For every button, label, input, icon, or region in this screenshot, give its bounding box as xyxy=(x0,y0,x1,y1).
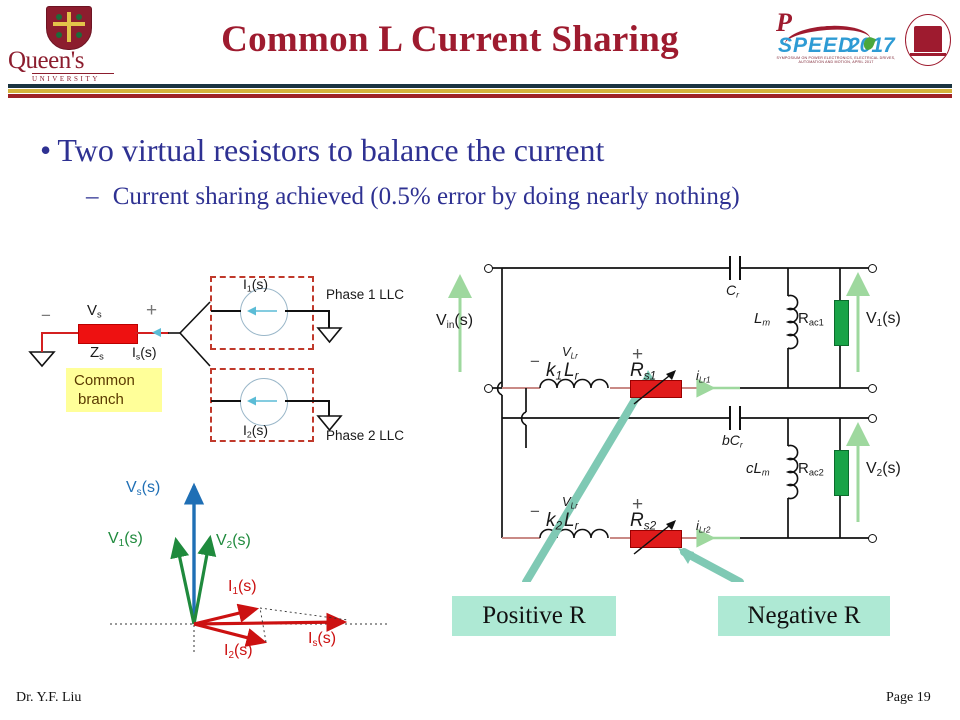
queens-subtitle: UNIVERSITY xyxy=(32,73,114,83)
rac1-resistor xyxy=(834,300,849,346)
phasor-label-i2: I2(s) xyxy=(224,642,253,661)
common-branch-highlight: Common branch xyxy=(66,368,162,412)
common-branch-line-2: branch xyxy=(78,391,124,408)
speed-logo-subtitle: SYMPOSIUM ON POWER ELECTRONICS, ELECTRIC… xyxy=(776,56,896,64)
vlr1-minus-sign: − xyxy=(530,352,540,372)
label-v1-out: V1(s) xyxy=(866,310,901,329)
label-k2lr: k2Lr xyxy=(546,510,579,532)
phase-1-caption: Phase 1 LLC xyxy=(326,287,404,302)
source-plus-sign: + xyxy=(146,300,157,322)
phasor-label-vs: Vs(s) xyxy=(126,479,160,498)
terminal-v2-top xyxy=(868,414,877,423)
speed-logo-word: SPEED xyxy=(778,34,854,58)
footer-author: Dr. Y.F. Liu xyxy=(16,690,81,706)
phasor-label-i1: I1(s) xyxy=(228,578,257,597)
stripe-gold xyxy=(8,89,952,93)
queens-crest-icon xyxy=(46,6,92,50)
terminal-v1-top xyxy=(868,264,877,273)
phasor-label-v2: V2(s) xyxy=(216,532,251,551)
label-i1: I1(s) xyxy=(243,276,268,293)
is-direction-arrow-icon xyxy=(152,327,166,338)
terminal-v1-bottom xyxy=(868,384,877,393)
header-stripe-band xyxy=(8,84,952,101)
impedance-zs-box xyxy=(78,324,138,344)
bullet-level-2-marker: – xyxy=(86,183,99,210)
label-i2: I2(s) xyxy=(243,422,268,439)
slide-header: Queen's UNIVERSITY Common L Current Shar… xyxy=(0,0,960,92)
label-clm: cLm xyxy=(746,460,770,478)
common-branch-line-1: Common xyxy=(74,372,135,389)
stripe-dark xyxy=(8,84,952,88)
label-k1lr: k1Lr xyxy=(546,360,579,382)
wire-ground-to-zs xyxy=(41,332,43,352)
terminal-vin-bottom xyxy=(484,384,493,393)
label-vlr2: VLr xyxy=(562,494,578,510)
wire-zs-left xyxy=(41,332,79,334)
label-rac1: Rac1 xyxy=(798,310,824,328)
branch-split-wires xyxy=(166,288,212,378)
label-ilr2: iLr2 xyxy=(696,518,711,534)
label-rs1: Rs1 xyxy=(630,360,656,382)
label-rac2: Rac2 xyxy=(798,460,824,478)
bullet-level-1: • Two virtual resistors to balance the c… xyxy=(40,132,604,169)
institution-seal-icon xyxy=(905,14,951,66)
wire-p1-right xyxy=(285,310,330,312)
bullet-level-1-text: Two virtual resistors to balance the cur… xyxy=(57,132,604,168)
phase-1-ground-icon xyxy=(316,326,343,345)
source-minus-sign: − xyxy=(41,306,51,326)
vlr2-minus-sign: − xyxy=(530,502,540,522)
wire-p2-left xyxy=(211,400,241,402)
phase-2-source-arrow-icon xyxy=(247,395,279,407)
terminal-v2-bottom xyxy=(868,534,877,543)
bullet-level-2-text: Current sharing achieved (0.5% error by … xyxy=(113,183,740,210)
stripe-red xyxy=(8,94,952,98)
ground-symbol-icon xyxy=(28,350,56,370)
equivalent-source-model-diagram: − Vs + Zs Is(s) I1(s) Phase 1 LLC xyxy=(14,258,434,468)
queens-name: Queen's xyxy=(8,47,84,74)
phasor-vectors xyxy=(100,472,400,662)
callout-positive-r: Positive R xyxy=(452,596,616,636)
label-vs: Vs xyxy=(87,302,102,320)
label-cr: Cr xyxy=(726,282,739,299)
label-is: Is(s) xyxy=(132,344,157,361)
label-v2-out: V2(s) xyxy=(866,460,901,479)
phase-2-caption: Phase 2 LLC xyxy=(326,428,404,443)
label-zs: Zs xyxy=(90,344,104,362)
rac2-resistor xyxy=(834,450,849,496)
label-bcr: bCr xyxy=(722,432,743,449)
phasor-label-is: Is(s) xyxy=(308,630,336,649)
queens-wordmark: Queen's UNIVERSITY xyxy=(8,48,133,80)
label-rs2: Rs2 xyxy=(630,510,656,532)
callout-negative-r: Negative R xyxy=(718,596,890,636)
phase-1-source-arrow-icon xyxy=(247,305,279,317)
bullet-level-2: – Current sharing achieved (0.5% error b… xyxy=(86,183,740,211)
label-vlr1: VLr xyxy=(562,344,578,360)
page-title: Common L Current Sharing xyxy=(140,18,760,61)
label-ilr1: iLr1 xyxy=(696,368,711,384)
label-lm: Lm xyxy=(754,310,770,328)
speed-2017-conference-logo: P SPEED 2017 SYMPOSIUM ON POWER ELECTRON… xyxy=(770,8,900,72)
two-phase-llc-equivalent-circuit: Vin(s) − VLr k1Lr + Rs1 iLr1 Cr Lm Rac1 … xyxy=(440,252,960,582)
bullet-marker: • xyxy=(40,132,50,169)
wire-p2-right xyxy=(285,400,330,402)
queens-university-logo: Queen's UNIVERSITY xyxy=(8,4,133,80)
phasor-label-v1: V1(s) xyxy=(108,530,143,549)
footer-page-number: Page 19 xyxy=(886,690,931,706)
wire-p1-left xyxy=(211,310,241,312)
label-vin: Vin(s) xyxy=(436,312,473,331)
phasor-diagram: Vs(s) V1(s) V2(s) I1(s) I2(s) Is(s) xyxy=(100,472,400,662)
terminal-vin-top xyxy=(484,264,493,273)
